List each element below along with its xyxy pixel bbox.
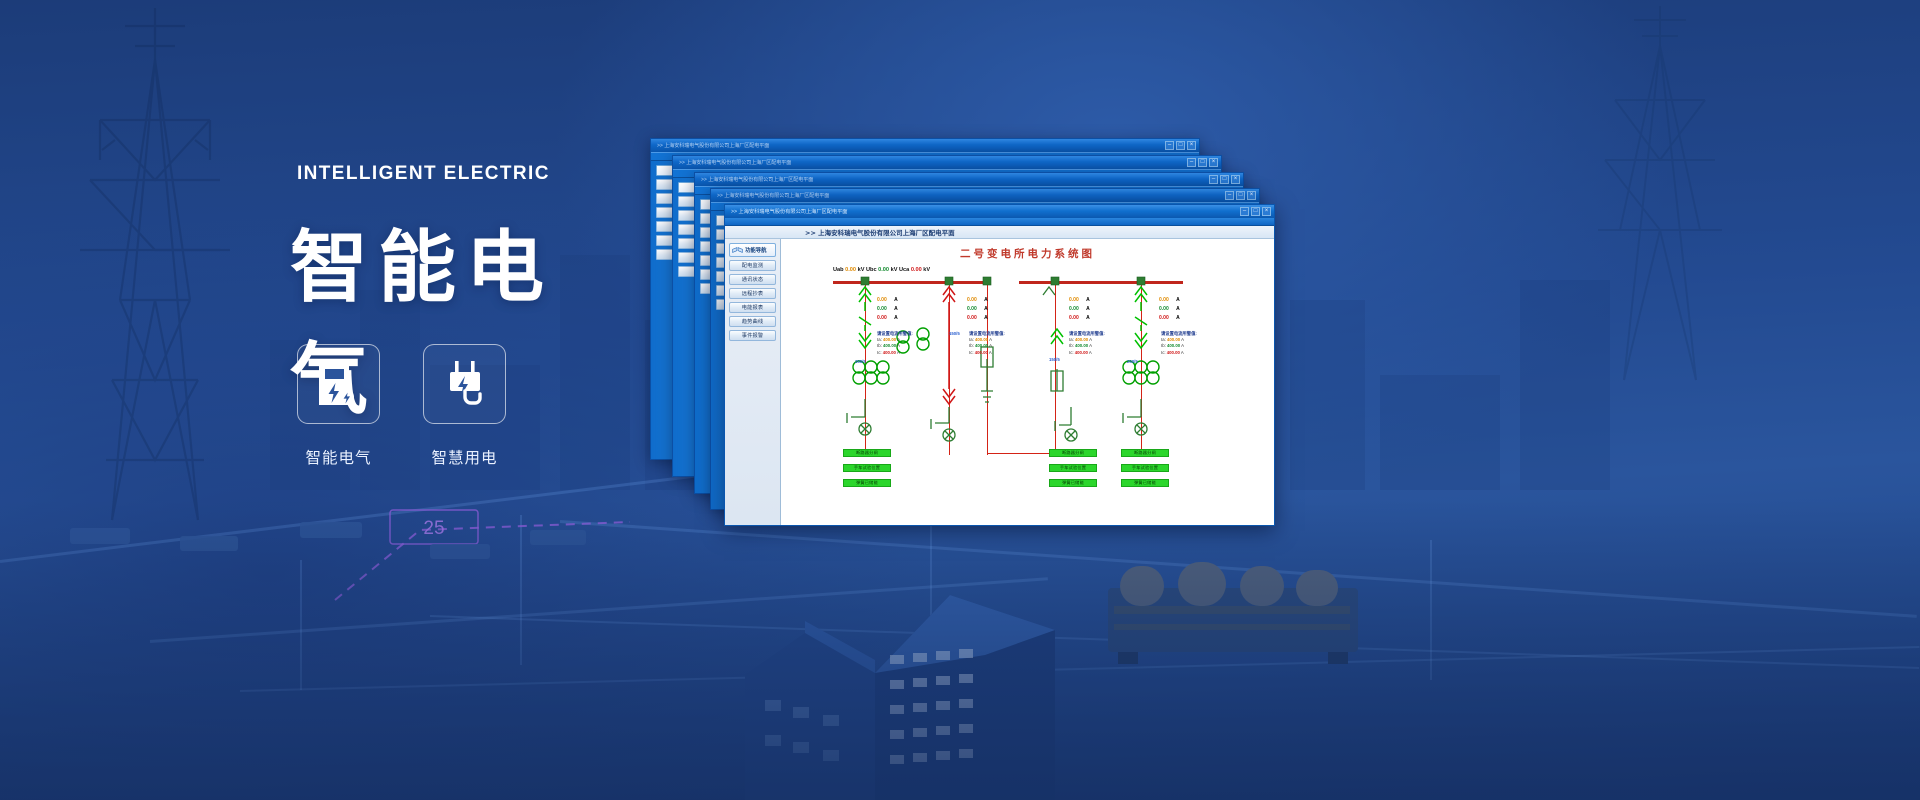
sidebar-item-trend-curve[interactable]: 趋势曲线: [729, 316, 776, 327]
maximize-button[interactable]: □: [1198, 158, 1207, 167]
maximize-button[interactable]: □: [1220, 175, 1229, 184]
status-button-breaker-open[interactable]: 断路器分闸: [843, 449, 891, 457]
close-button[interactable]: ×: [1262, 207, 1271, 216]
setting-unit: A: [1181, 337, 1184, 342]
breadcrumb: >> 上海安科瑞电气股份有限公司上海厂区配电平面: [789, 227, 955, 237]
ic-value: 0.00: [877, 315, 887, 321]
window-controls[interactable]: – □ ×: [1187, 158, 1218, 167]
sidebar-item-remote-meter[interactable]: 远程抄表: [729, 288, 776, 299]
ib-value: 0.00: [1159, 306, 1169, 312]
setting-label: Ic:: [877, 350, 882, 355]
setting-unit: A: [897, 343, 900, 348]
diagram-canvas: 二号变电所电力系统图 Uab 0.00 kV Ubc 0.00 kV Uca 0…: [781, 239, 1274, 525]
ia-value: 0.00: [877, 297, 887, 303]
ct-ratio-label-1: 250/5: [855, 359, 866, 364]
window-title: >> 上海安科瑞电气股份有限公司上海厂区配电平面: [651, 142, 1165, 149]
ia-value: 0.00: [967, 297, 977, 303]
close-button[interactable]: ×: [1187, 141, 1196, 150]
setting-label: Ic:: [1069, 350, 1074, 355]
minimize-button[interactable]: –: [1225, 191, 1234, 200]
maximize-button[interactable]: □: [1176, 141, 1185, 150]
setting-label: Ic:: [969, 350, 974, 355]
front-window-body: 功能导航 配电监测 通讯状态 远程抄表 电能报表 趋势曲线 事件报警 二号变电所…: [725, 239, 1274, 525]
window-title: >> 上海安科瑞电气股份有限公司上海厂区配电平面: [673, 159, 1187, 166]
setting-label: Ib:: [969, 343, 974, 348]
status-button-spring-charged[interactable]: 弹簧已储能: [843, 479, 891, 487]
status-button-truck-test[interactable]: 手车试验位置: [843, 464, 891, 472]
setting-unit: A: [1089, 337, 1092, 342]
maximize-button[interactable]: □: [1236, 191, 1245, 200]
setting-label: Ia:: [969, 337, 974, 342]
minimize-button[interactable]: –: [1187, 158, 1196, 167]
setting-unit: A: [897, 350, 900, 355]
ic-value: 0.00: [967, 315, 977, 321]
setting-value: 400.00: [1075, 350, 1088, 355]
window-controls[interactable]: – □ ×: [1165, 141, 1196, 150]
setting-unit: A: [1089, 350, 1092, 355]
setting-value: 400.00: [975, 350, 988, 355]
ib-value: 0.00: [967, 306, 977, 312]
current-readout-feeder-2: 0.00 A 0.00 A 0.00 A: [967, 296, 988, 323]
front-window-title: >> 上海安科瑞电气股份有限公司上海厂区配电平面: [731, 208, 1240, 215]
function-nav-sidebar: 功能导航 配电监测 通讯状态 远程抄表 电能报表 趋势曲线 事件报警: [725, 239, 781, 525]
setting-label: Ia:: [877, 337, 882, 342]
window-title: >> 上海安科瑞电气股份有限公司上海厂区配电平面: [711, 192, 1225, 199]
setting-value: 400.00: [1167, 343, 1180, 348]
window-titlebar[interactable]: >> 上海安科瑞电气股份有限公司上海厂区配电平面 – □ ×: [651, 139, 1199, 152]
front-window-controls[interactable]: – □ ×: [1240, 207, 1271, 216]
setting-label: Ib:: [1161, 343, 1166, 348]
window-stack: >> 上海安科瑞电气股份有限公司上海厂区配电平面 – □ ×: [0, 0, 1920, 800]
front-window-subheader: >> 上海安科瑞电气股份有限公司上海厂区配电平面: [725, 226, 1274, 239]
setting-label: Ib:: [877, 343, 882, 348]
minimize-button[interactable]: –: [1165, 141, 1174, 150]
setting-header: 请设置电流所警值:: [877, 331, 913, 336]
ct-ratio-label-3: 150/5: [1049, 357, 1060, 362]
window-titlebar[interactable]: >> 上海安科瑞电气股份有限公司上海厂区配电平面 – □ ×: [695, 173, 1243, 186]
setting-unit: A: [1089, 343, 1092, 348]
setting-value: 400.00: [883, 350, 896, 355]
setting-value: 400.00: [883, 337, 896, 342]
front-window[interactable]: >> 上海安科瑞电气股份有限公司上海厂区配电平面 – □ × >> 上海安科瑞电…: [724, 204, 1275, 526]
unit-a: A: [894, 306, 898, 312]
front-window-menubar[interactable]: [725, 218, 1274, 226]
setting-value: 400.00: [975, 343, 988, 348]
close-button[interactable]: ×: [1209, 158, 1218, 167]
unit-a: A: [894, 315, 898, 321]
unit-a: A: [1176, 306, 1180, 312]
unit-a: A: [984, 315, 988, 321]
ct-ratio-label-2: 150/5: [949, 331, 960, 336]
current-readout-feeder-3: 0.00 A 0.00 A 0.00 A: [1069, 296, 1090, 323]
book-icon: [732, 246, 743, 254]
unit-a: A: [1086, 306, 1090, 312]
setting-label: Ib:: [1069, 343, 1074, 348]
ib-value: 0.00: [877, 306, 887, 312]
sidebar-item-comm-status[interactable]: 通讯状态: [729, 274, 776, 285]
alarm-setting-block-1: 请设置电流所警值: Ia: 400.00 A Ib: 400.00 A Ic: …: [877, 331, 913, 356]
setting-unit: A: [1181, 350, 1184, 355]
setting-label: Ia:: [1161, 337, 1166, 342]
unit-a: A: [984, 306, 988, 312]
ia-value: 0.00: [1159, 297, 1169, 303]
current-readout-feeder-1: 0.00 A 0.00 A 0.00 A: [877, 296, 898, 323]
unit-a: A: [1086, 297, 1090, 303]
unit-a: A: [1176, 315, 1180, 321]
setting-value: 400.00: [883, 343, 896, 348]
unit-a: A: [1176, 297, 1180, 303]
window-controls[interactable]: – □ ×: [1225, 191, 1256, 200]
sidebar-item-power-monitor[interactable]: 配电监测: [729, 260, 776, 271]
window-title: >> 上海安科瑞电气股份有限公司上海厂区配电平面: [695, 176, 1209, 183]
minimize-button[interactable]: –: [1209, 175, 1218, 184]
ct-ratio-label-4: 250/5: [1127, 359, 1138, 364]
maximize-button[interactable]: □: [1251, 207, 1260, 216]
function-nav-header[interactable]: 功能导航: [729, 243, 776, 257]
close-button[interactable]: ×: [1247, 191, 1256, 200]
setting-header: 请设置电流所警值:: [1069, 331, 1105, 336]
ia-value: 0.00: [1069, 297, 1079, 303]
status-button-spring-charged[interactable]: 弹簧已储能: [1121, 479, 1169, 487]
unit-a: A: [1086, 315, 1090, 321]
close-button[interactable]: ×: [1231, 175, 1240, 184]
alarm-setting-block-2: 请设置电流所警值: Ia: 400.00 A Ib: 400.00 A Ic: …: [969, 331, 1005, 356]
setting-unit: A: [989, 350, 992, 355]
setting-value: 400.00: [975, 337, 988, 342]
ic-value: 0.00: [1069, 315, 1079, 321]
setting-value: 400.00: [1075, 337, 1088, 342]
setting-header: 请设置电流所警值:: [1161, 331, 1197, 336]
window-titlebar[interactable]: >> 上海安科瑞电气股份有限公司上海厂区配电平面 – □ ×: [711, 189, 1259, 202]
status-button-truck-test[interactable]: 手车试验位置: [1121, 464, 1169, 472]
status-button-truck-test[interactable]: 手车试验位置: [1049, 464, 1097, 472]
setting-header: 请设置电流所警值:: [969, 331, 1005, 336]
setting-unit: A: [989, 337, 992, 342]
setting-label: Ia:: [1069, 337, 1074, 342]
function-nav-header-label: 功能导航: [745, 246, 767, 254]
minimize-button[interactable]: –: [1240, 207, 1249, 216]
setting-unit: A: [989, 343, 992, 348]
setting-unit: A: [1181, 343, 1184, 348]
setting-value: 400.00: [1167, 337, 1180, 342]
front-window-titlebar[interactable]: >> 上海安科瑞电气股份有限公司上海厂区配电平面 – □ ×: [725, 205, 1274, 218]
status-button-breaker-open[interactable]: 断路器分闸: [1049, 449, 1097, 457]
setting-label: Ic:: [1161, 350, 1166, 355]
status-button-breaker-open[interactable]: 断路器分闸: [1121, 449, 1169, 457]
alarm-setting-block-3: 请设置电流所警值: Ia: 400.00 A Ib: 400.00 A Ic: …: [1069, 331, 1105, 356]
window-titlebar[interactable]: >> 上海安科瑞电气股份有限公司上海厂区配电平面 – □ ×: [673, 156, 1221, 169]
unit-a: A: [984, 297, 988, 303]
ic-value: 0.00: [1159, 315, 1169, 321]
sidebar-item-event-alarm[interactable]: 事件报警: [729, 330, 776, 341]
window-controls[interactable]: – □ ×: [1209, 175, 1240, 184]
ib-value: 0.00: [1069, 306, 1079, 312]
sidebar-item-energy-report[interactable]: 电能报表: [729, 302, 776, 313]
setting-unit: A: [897, 337, 900, 342]
alarm-setting-block-4: 请设置电流所警值: Ia: 400.00 A Ib: 400.00 A Ic: …: [1161, 331, 1197, 356]
setting-value: 400.00: [1075, 343, 1088, 348]
unit-a: A: [894, 297, 898, 303]
current-readout-feeder-4: 0.00 A 0.00 A 0.00 A: [1159, 296, 1180, 323]
setting-value: 400.00: [1167, 350, 1180, 355]
status-button-spring-charged[interactable]: 弹簧已储能: [1049, 479, 1097, 487]
